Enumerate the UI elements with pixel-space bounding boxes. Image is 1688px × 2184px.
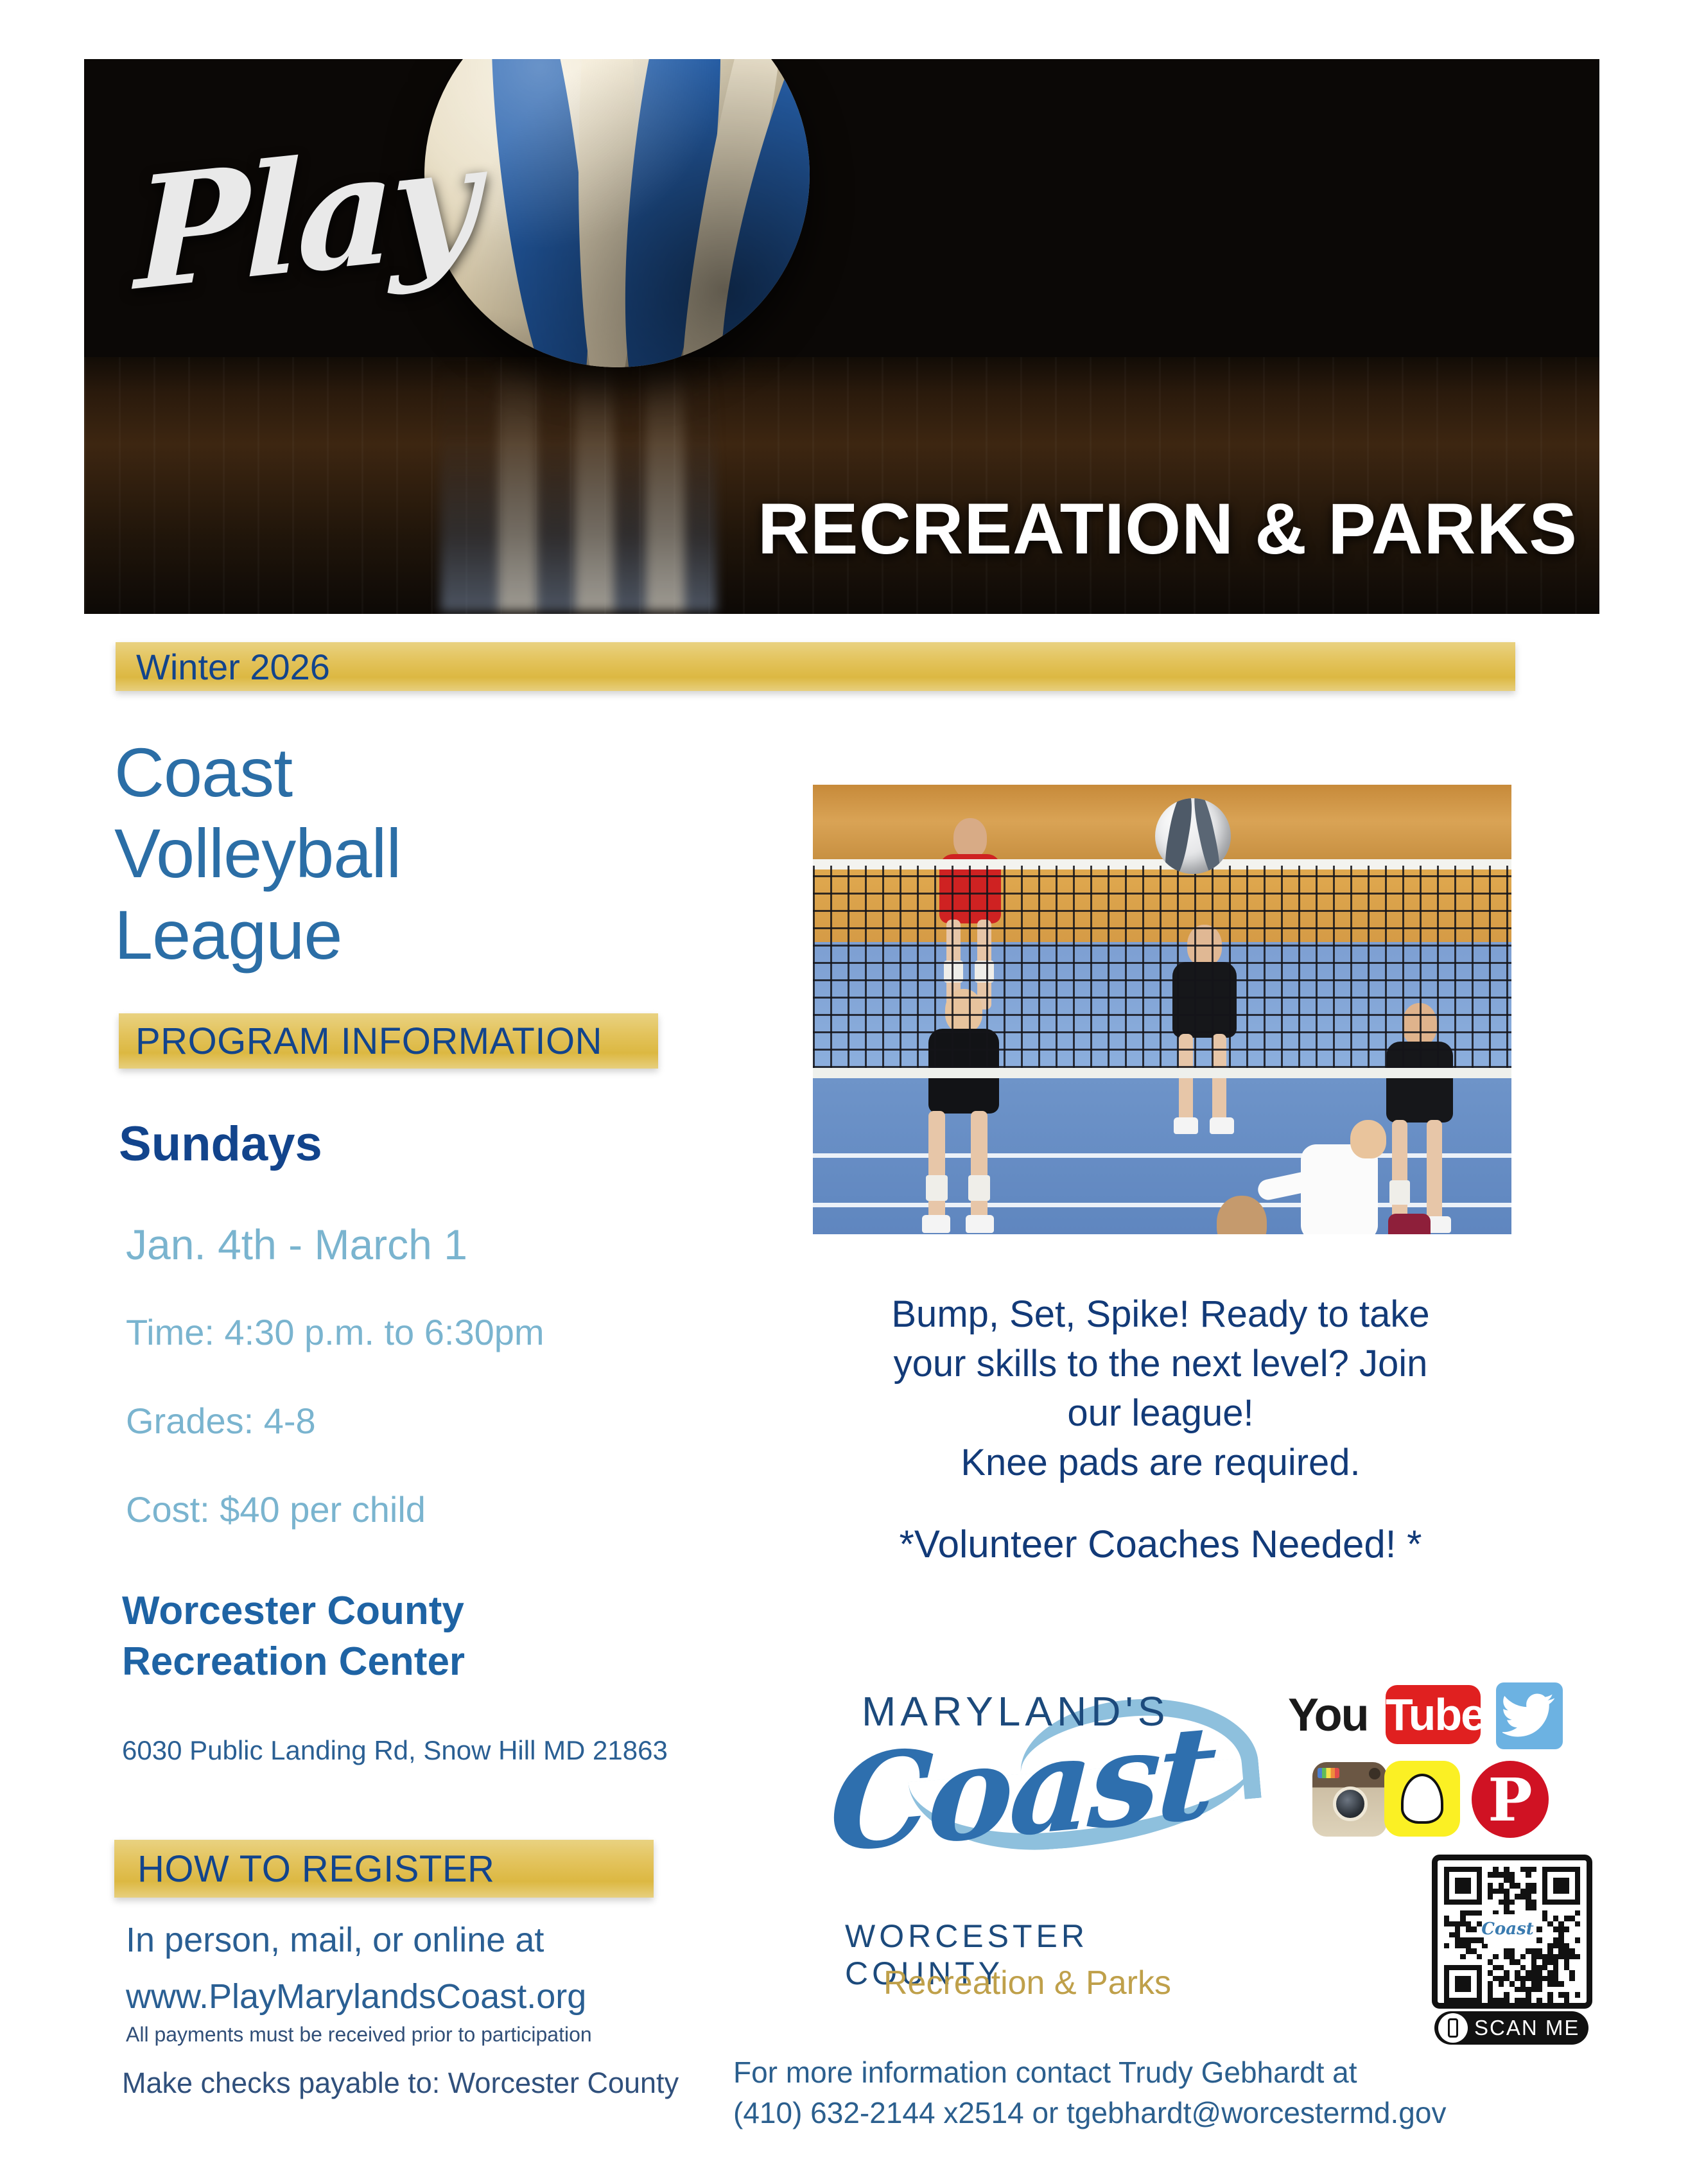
department-label: RECREATION & PARKS	[758, 487, 1578, 570]
program-cost: Cost: $40 per child	[126, 1489, 426, 1530]
volleyball-icon	[424, 59, 810, 367]
register-website-link[interactable]: www.PlayMarylandsCoast.org	[126, 1977, 586, 2016]
twitter-bird-glyph	[1502, 1691, 1556, 1740]
qr-code[interactable]: Coast	[1432, 1855, 1592, 2009]
contact-line-2[interactable]: (410) 632-2144 x2514 or tgebhardt@worces…	[733, 2093, 1536, 2133]
program-day: Sundays	[119, 1116, 322, 1172]
how-to-register-bar: HOW TO REGISTER	[114, 1840, 654, 1898]
scan-me-badge: SCAN ME	[1434, 2011, 1588, 2045]
venue-line-2: Recreation Center	[122, 1637, 465, 1688]
phone-icon	[1438, 2013, 1468, 2043]
program-time: Time: 4:30 p.m. to 6:30pm	[126, 1311, 544, 1353]
register-methods: In person, mail, or online at	[126, 1920, 544, 1960]
logo-coast-script: Coast	[827, 1705, 1249, 1871]
instagram-lens	[1333, 1787, 1368, 1821]
how-to-register-label: HOW TO REGISTER	[114, 1848, 494, 1891]
venue-name: Worcester County Recreation Center	[122, 1586, 465, 1687]
volleyball-in-air	[1155, 798, 1231, 874]
youtube-tube-text: Tube	[1386, 1685, 1481, 1744]
twitter-icon[interactable]	[1496, 1682, 1563, 1749]
marylands-coast-logo: MARYLAND'S Coast WORCESTER COUNTY Recrea…	[808, 1673, 1257, 2033]
season-bar: Winter 2026	[116, 642, 1515, 691]
promo-line-2: your skills to the next level? Join	[815, 1339, 1506, 1388]
snapchat-ghost-glyph	[1401, 1774, 1443, 1824]
promo-line-1: Bump, Set, Spike! Ready to take	[815, 1289, 1506, 1339]
flyer-page: Play RECREATION & PARKS Winter 2026 Coas…	[0, 0, 1688, 2184]
title-line-3: League	[114, 895, 401, 975]
ball-reflection	[440, 361, 717, 611]
venue-address: 6030 Public Landing Rd, Snow Hill MD 218…	[122, 1735, 668, 1766]
title-line-1: Coast	[114, 732, 401, 813]
program-information-label: PROGRAM INFORMATION	[119, 1020, 602, 1063]
player-white-foreground	[1211, 1196, 1359, 1234]
season-label: Winter 2026	[116, 646, 330, 688]
volleyball-game-photo	[813, 785, 1511, 1234]
qr-code-block[interactable]: Coast SCAN ME	[1432, 1855, 1592, 2054]
payment-fineprint: All payments must be received prior to p…	[126, 2023, 592, 2047]
volunteer-coaches-note: *Volunteer Coaches Needed! *	[815, 1522, 1506, 1566]
logo-recreation-parks: Recreation & Parks	[883, 1964, 1171, 2002]
contact-info: For more information contact Trudy Gebha…	[733, 2052, 1536, 2134]
gym-floor	[84, 357, 1599, 614]
program-dates: Jan. 4th - March 1	[126, 1220, 467, 1269]
pinterest-icon[interactable]: P	[1472, 1761, 1549, 1838]
snapchat-icon[interactable]	[1384, 1761, 1460, 1837]
program-information-bar: PROGRAM INFORMATION	[119, 1013, 658, 1069]
youtube-you-text: You	[1288, 1689, 1368, 1742]
checks-payable-note: Make checks payable to: Worcester County	[122, 2066, 679, 2100]
volleyball-net	[813, 866, 1511, 1068]
program-grades: Grades: 4-8	[126, 1400, 316, 1442]
promo-text: Bump, Set, Spike! Ready to take your ski…	[815, 1289, 1506, 1488]
youtube-icon[interactable]: You Tube	[1288, 1685, 1481, 1744]
pinterest-p-glyph: P	[1472, 1761, 1549, 1838]
venue-line-1: Worcester County	[122, 1586, 465, 1637]
instagram-rainbow-stripe	[1318, 1768, 1339, 1778]
header-banner: Play RECREATION & PARKS	[84, 59, 1599, 614]
page-title: Coast Volleyball League	[114, 732, 401, 975]
qr-embedded-logo: Coast	[1484, 1914, 1531, 1944]
title-line-2: Volleyball	[114, 813, 401, 894]
promo-line-3: our league!	[815, 1388, 1506, 1438]
promo-line-4: Knee pads are required.	[815, 1438, 1506, 1487]
scan-me-label: SCAN ME	[1474, 2011, 1579, 2045]
instagram-viewfinder	[1369, 1768, 1380, 1779]
instagram-icon[interactable]	[1312, 1762, 1387, 1837]
contact-line-1: For more information contact Trudy Gebha…	[733, 2052, 1536, 2093]
play-wordmark: Play	[135, 123, 473, 313]
